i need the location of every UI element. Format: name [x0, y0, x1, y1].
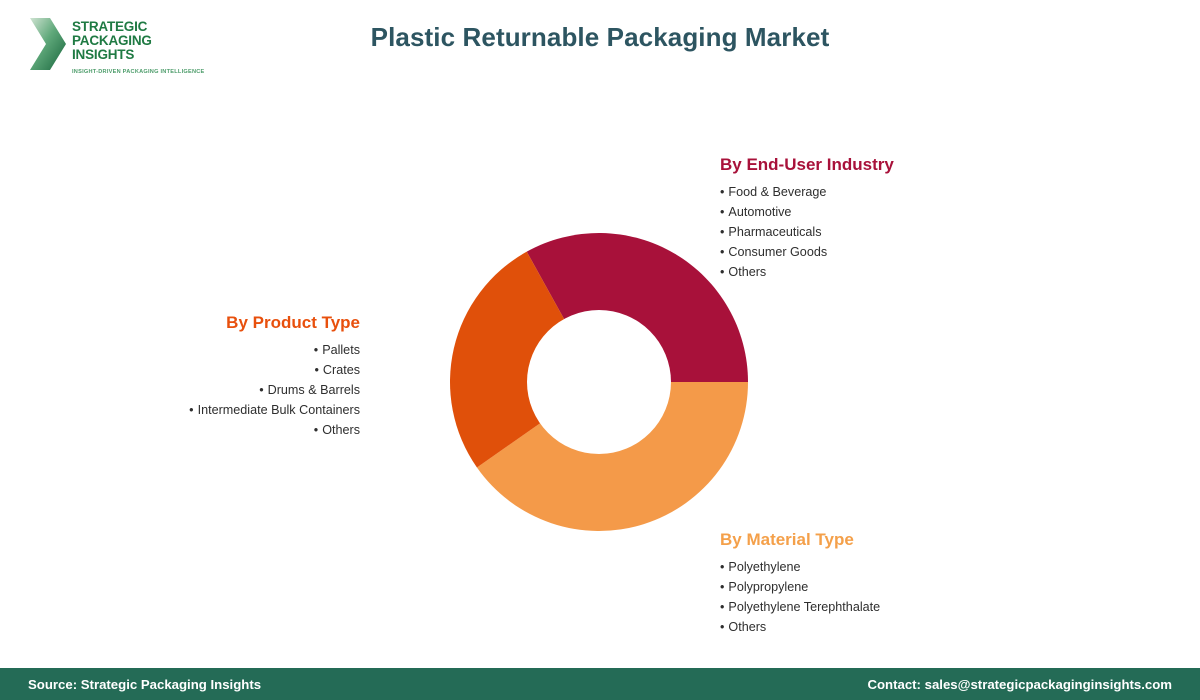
donut-hole — [527, 310, 671, 454]
bullet-icon: • — [189, 403, 193, 417]
category-material-type: By Material Type •Polyethylene •Polyprop… — [720, 530, 880, 637]
bullet-icon: • — [314, 363, 318, 377]
list-item-label: Polyethylene — [728, 560, 800, 574]
category-title-product-type: By Product Type — [120, 313, 360, 333]
page-title: Plastic Returnable Packaging Market — [0, 22, 1200, 53]
bullet-icon: • — [720, 245, 724, 259]
infographic-page: STRATEGIC PACKAGING INSIGHTS INSIGHT-DRI… — [0, 0, 1200, 700]
bullet-icon: • — [314, 423, 318, 437]
bullet-icon: • — [314, 343, 318, 357]
bullet-icon: • — [720, 560, 724, 574]
list-item-label: Others — [728, 620, 766, 634]
list-item-label: Polypropylene — [728, 580, 808, 594]
category-list-product-type: •Pallets •Crates •Drums & Barrels •Inter… — [120, 340, 360, 440]
list-item: •Polyethylene Terephthalate — [720, 597, 880, 617]
list-item: •Intermediate Bulk Containers — [120, 400, 360, 420]
footer-bar: Source: Strategic Packaging Insights Con… — [0, 668, 1200, 700]
list-item-label: Polyethylene Terephthalate — [728, 600, 880, 614]
category-product-type: By Product Type •Pallets •Crates •Drums … — [120, 313, 360, 440]
bullet-icon: • — [720, 205, 724, 219]
list-item-label: Intermediate Bulk Containers — [198, 403, 360, 417]
list-item-label: Others — [322, 423, 360, 437]
donut-chart — [449, 232, 749, 532]
list-item-label: Pallets — [322, 343, 360, 357]
list-item-label: Automotive — [728, 205, 791, 219]
bullet-icon: • — [720, 265, 724, 279]
list-item-label: Pharmaceuticals — [728, 225, 821, 239]
list-item: •Others — [720, 617, 880, 637]
category-title-end-user: By End-User Industry — [720, 155, 894, 175]
donut-chart-svg — [449, 232, 749, 532]
list-item: •Food & Beverage — [720, 182, 894, 202]
list-item: •Polyethylene — [720, 557, 880, 577]
list-item-label: Food & Beverage — [728, 185, 826, 199]
list-item: •Consumer Goods — [720, 242, 894, 262]
category-list-material-type: •Polyethylene •Polypropylene •Polyethyle… — [720, 557, 880, 637]
bullet-icon: • — [720, 185, 724, 199]
list-item: •Others — [120, 420, 360, 440]
footer-contact: Contact: sales@strategicpackaginginsight… — [867, 677, 1172, 692]
bullet-icon: • — [720, 620, 724, 634]
bullet-icon: • — [720, 580, 724, 594]
list-item: •Pharmaceuticals — [720, 222, 894, 242]
list-item: •Polypropylene — [720, 577, 880, 597]
footer-source: Source: Strategic Packaging Insights — [28, 677, 261, 692]
list-item: •Others — [720, 262, 894, 282]
list-item: •Automotive — [720, 202, 894, 222]
list-item-label: Consumer Goods — [728, 245, 827, 259]
category-title-material-type: By Material Type — [720, 530, 880, 550]
list-item: •Pallets — [120, 340, 360, 360]
list-item-label: Crates — [323, 363, 360, 377]
list-item-label: Others — [728, 265, 766, 279]
list-item: •Crates — [120, 360, 360, 380]
logo-tagline: INSIGHT-DRIVEN PACKAGING INTELLIGENCE — [72, 69, 212, 75]
bullet-icon: • — [259, 383, 263, 397]
category-end-user-industry: By End-User Industry •Food & Beverage •A… — [720, 155, 894, 282]
bullet-icon: • — [720, 600, 724, 614]
bullet-icon: • — [720, 225, 724, 239]
list-item: •Drums & Barrels — [120, 380, 360, 400]
category-list-end-user: •Food & Beverage •Automotive •Pharmaceut… — [720, 182, 894, 282]
list-item-label: Drums & Barrels — [268, 383, 360, 397]
